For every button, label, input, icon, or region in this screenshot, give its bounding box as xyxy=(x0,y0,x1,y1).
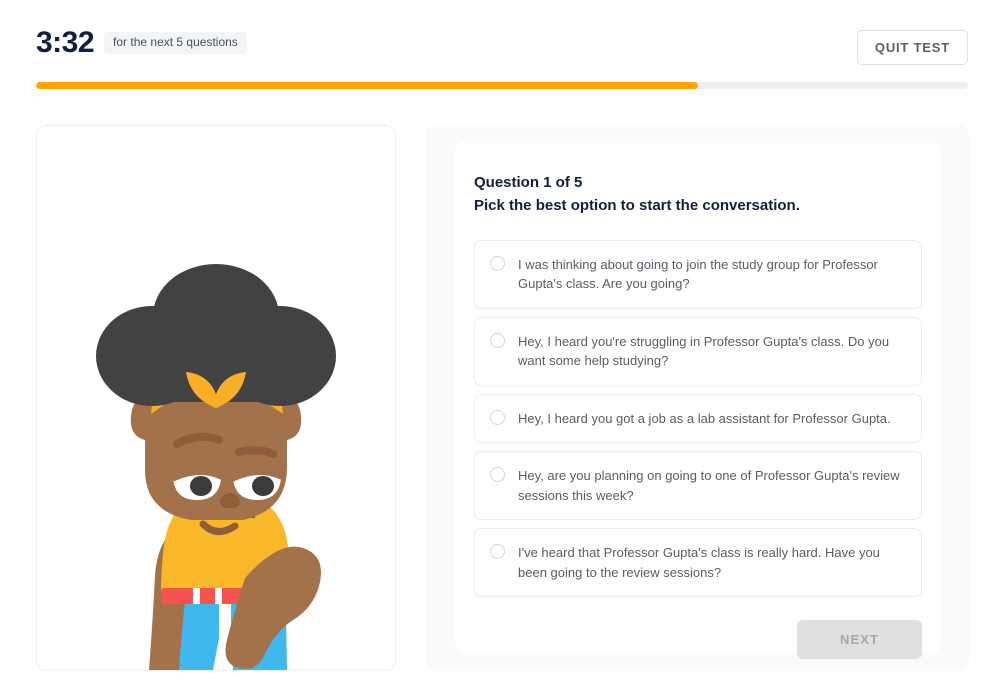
answer-option-label: Hey, I heard you're struggling in Profes… xyxy=(518,332,905,371)
next-button-row: NEXT xyxy=(474,620,922,659)
radio-button-icon[interactable] xyxy=(490,410,505,425)
radio-button-icon[interactable] xyxy=(490,256,505,271)
question-panel-outer: Question 1 of 5 Pick the best option to … xyxy=(425,125,969,671)
question-prompt: Pick the best option to start the conver… xyxy=(474,194,922,217)
answer-option[interactable]: Hey, I heard you got a job as a lab assi… xyxy=(474,394,922,444)
radio-button-icon[interactable] xyxy=(490,467,505,482)
header-bar: 3:32 for the next 5 questions QUIT TEST xyxy=(0,0,1000,88)
answer-option-label: I was thinking about going to join the s… xyxy=(518,255,905,294)
progress-bar-fill xyxy=(36,82,698,89)
quit-test-button[interactable]: QUIT TEST xyxy=(857,30,968,65)
character-illustration xyxy=(37,126,395,670)
answer-option[interactable]: Hey, I heard you're struggling in Profes… xyxy=(474,317,922,386)
progress-bar xyxy=(36,82,968,89)
question-counter: Question 1 of 5 xyxy=(474,171,922,194)
answer-option-label: Hey, I heard you got a job as a lab assi… xyxy=(518,409,891,429)
answer-option[interactable]: I was thinking about going to join the s… xyxy=(474,240,922,309)
timer-group: 3:32 for the next 5 questions xyxy=(36,28,247,58)
next-button[interactable]: NEXT xyxy=(797,620,922,659)
test-page: 3:32 for the next 5 questions QUIT TEST xyxy=(0,0,1000,688)
radio-button-icon[interactable] xyxy=(490,333,505,348)
answer-option[interactable]: I've heard that Professor Gupta's class … xyxy=(474,528,922,597)
illustration-card xyxy=(36,125,396,671)
answer-option-label: I've heard that Professor Gupta's class … xyxy=(518,543,905,582)
timer-note: for the next 5 questions xyxy=(104,32,247,54)
answer-option-label: Hey, are you planning on going to one of… xyxy=(518,466,905,505)
timer-value: 3:32 xyxy=(36,28,94,58)
answer-option[interactable]: Hey, are you planning on going to one of… xyxy=(474,451,922,520)
question-card: Question 1 of 5 Pick the best option to … xyxy=(455,141,941,653)
answer-options-list: I was thinking about going to join the s… xyxy=(474,240,922,598)
radio-button-icon[interactable] xyxy=(490,544,505,559)
